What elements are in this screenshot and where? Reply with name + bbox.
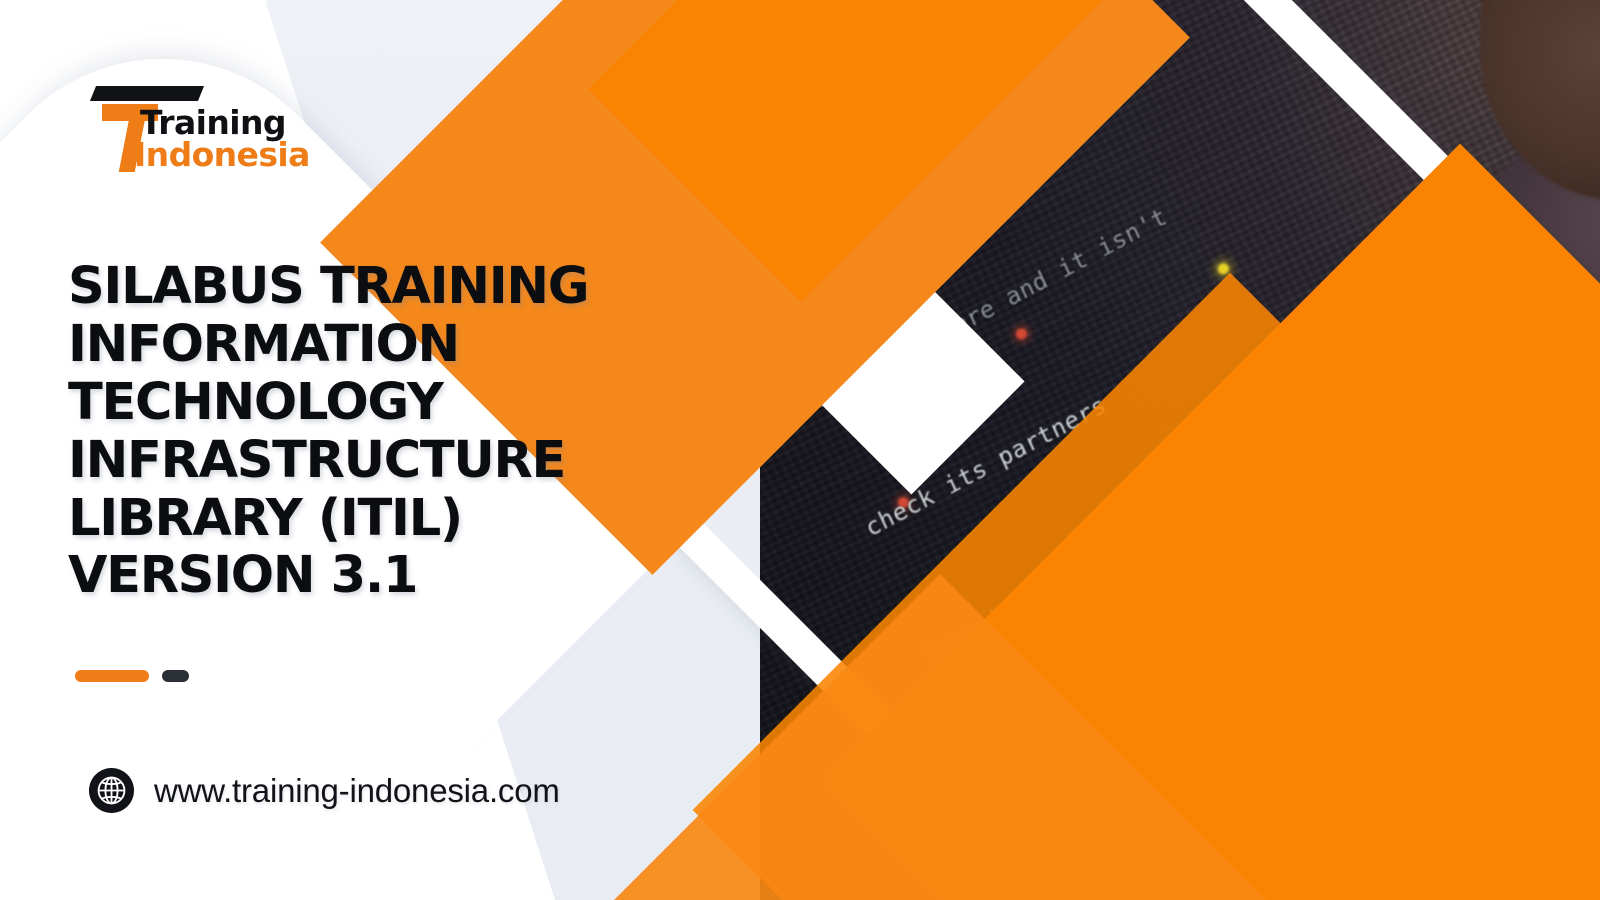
headline-line-2: INFORMATION [68,315,459,374]
content-column: Training Indonesia SILABUS TRAINING INFO… [0,0,760,900]
logo-black-bar-icon [90,86,204,101]
divider-bar-orange [75,670,149,682]
headline-line-4: INFRASTRUCTURE [68,431,565,490]
website-link[interactable]: www.training-indonesia.com [88,767,560,814]
headline-line-3: TECHNOLOGY [68,373,442,432]
website-url-text: www.training-indonesia.com [154,772,560,810]
brand-logo[interactable]: Training Indonesia [84,86,284,172]
page-title: SILABUS TRAINING INFORMATION TECHNOLOGY … [68,258,688,605]
divider-bar-dark [162,670,189,682]
globe-icon [88,767,135,814]
headline-line-6: VERSION 3.1 [68,546,417,605]
logo-word-indonesia: Indonesia [134,135,310,174]
headline-line-5: LIBRARY (ITIL) [68,489,462,548]
poster-canvas: e already been here a cycle not been her… [0,0,1600,900]
headline-line-1: SILABUS TRAINING [68,257,588,316]
